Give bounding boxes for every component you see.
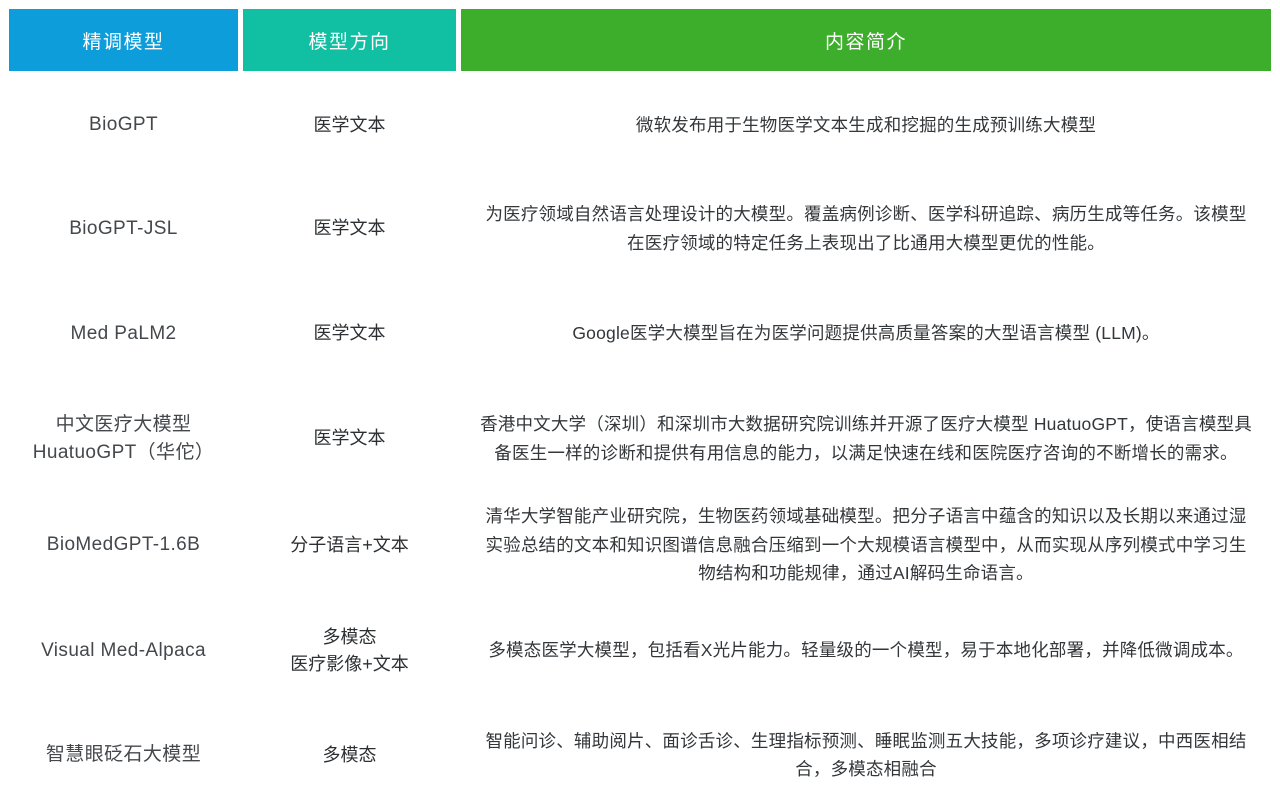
model-direction-cell-text: 多模态 (323, 742, 377, 769)
model-direction-cell-text: 医学文本 (314, 215, 386, 242)
model-name-cell: Med PaLM2 (9, 283, 238, 384)
model-direction-cell-line-1: 多模态 (290, 624, 409, 651)
model-description-cell: 香港中文大学（深圳）和深圳市大数据研究院训练并开源了医疗大模型 HuatuoGP… (461, 389, 1271, 488)
model-direction-cell-line-2: 医疗影像+文本 (290, 651, 409, 678)
model-name-cell: 中文医疗大模型HuatuoGPT（华佗） (9, 389, 238, 488)
model-description-cell: 为医疗领域自然语言处理设计的大模型。覆盖病例诊断、医学科研追踪、病历生成等任务。… (461, 179, 1271, 278)
model-name-cell-text: Med PaLM2 (70, 320, 176, 348)
model-name-cell-text: BioMedGPT-1.6B (47, 531, 200, 559)
model-description-cell-text: 微软发布用于生物医学文本生成和挖掘的生成预训练大模型 (636, 111, 1096, 139)
model-direction-cell: 多模态医疗影像+文本 (243, 602, 456, 699)
model-description-cell-text: 智能问诊、辅助阅片、面诊舌诊、生理指标预测、睡眠监测五大技能，多项诊疗建议，中西… (479, 727, 1253, 784)
table-grid: 精调模型模型方向内容简介BioGPT医学文本微软发布用于生物医学文本生成和挖掘的… (9, 9, 1271, 806)
model-description-cell: 智能问诊、辅助阅片、面诊舌诊、生理指标预测、睡眠监测五大技能，多项诊疗建议，中西… (461, 704, 1271, 806)
model-name-cell: BioMedGPT-1.6B (9, 493, 238, 597)
model-direction-cell-text: 医学文本 (314, 320, 386, 347)
column-header-description: 内容简介 (461, 9, 1271, 71)
model-direction-cell: 医学文本 (243, 283, 456, 384)
model-description-cell-text: 多模态医学大模型，包括看X光片能力。轻量级的一个模型，易于本地化部署，并降低微调… (488, 636, 1243, 664)
model-description-cell: 微软发布用于生物医学文本生成和挖掘的生成预训练大模型 (461, 76, 1271, 174)
column-header-model: 精调模型 (9, 9, 238, 71)
model-description-cell-text: 香港中文大学（深圳）和深圳市大数据研究院训练并开源了医疗大模型 HuatuoGP… (479, 410, 1253, 467)
model-name-cell-line-1: 中文医疗大模型 (33, 411, 215, 439)
model-direction-cell: 多模态 (243, 704, 456, 806)
model-name-cell: 智慧眼砭石大模型 (9, 704, 238, 806)
model-direction-cell: 医学文本 (243, 179, 456, 278)
model-direction-cell: 分子语言+文本 (243, 493, 456, 597)
model-name-cell: Visual Med-Alpaca (9, 602, 238, 699)
model-direction-cell-text: 医学文本 (314, 425, 386, 452)
comparison-table: 精调模型模型方向内容简介BioGPT医学文本微软发布用于生物医学文本生成和挖掘的… (0, 0, 1280, 802)
model-name-cell-text: BioGPT (89, 111, 158, 139)
model-description-cell-text: 清华大学智能产业研究院，生物医药领域基础模型。把分子语言中蕴含的知识以及长期以来… (479, 502, 1253, 587)
model-name-cell-text: 智慧眼砭石大模型 (46, 741, 201, 769)
model-name-cell-text: BioGPT-JSL (69, 215, 178, 243)
model-description-cell: 多模态医学大模型，包括看X光片能力。轻量级的一个模型，易于本地化部署，并降低微调… (461, 602, 1271, 699)
model-name-cell: BioGPT-JSL (9, 179, 238, 278)
model-direction-cell: 医学文本 (243, 389, 456, 488)
model-description-cell-text: Google医学大模型旨在为医学问题提供高质量答案的大型语言模型 (LLM)。 (572, 319, 1159, 347)
model-description-cell: 清华大学智能产业研究院，生物医药领域基础模型。把分子语言中蕴含的知识以及长期以来… (461, 493, 1271, 597)
model-description-cell: Google医学大模型旨在为医学问题提供高质量答案的大型语言模型 (LLM)。 (461, 283, 1271, 384)
model-name-cell-text: Visual Med-Alpaca (41, 637, 206, 665)
model-name-cell-line-2: HuatuoGPT（华佗） (33, 439, 215, 467)
model-direction-cell: 医学文本 (243, 76, 456, 174)
model-direction-cell-text: 医学文本 (314, 112, 386, 139)
model-direction-cell-text: 分子语言+文本 (290, 532, 409, 559)
model-description-cell-text: 为医疗领域自然语言处理设计的大模型。覆盖病例诊断、医学科研追踪、病历生成等任务。… (479, 200, 1253, 257)
model-name-cell: BioGPT (9, 76, 238, 174)
column-header-direction: 模型方向 (243, 9, 456, 71)
